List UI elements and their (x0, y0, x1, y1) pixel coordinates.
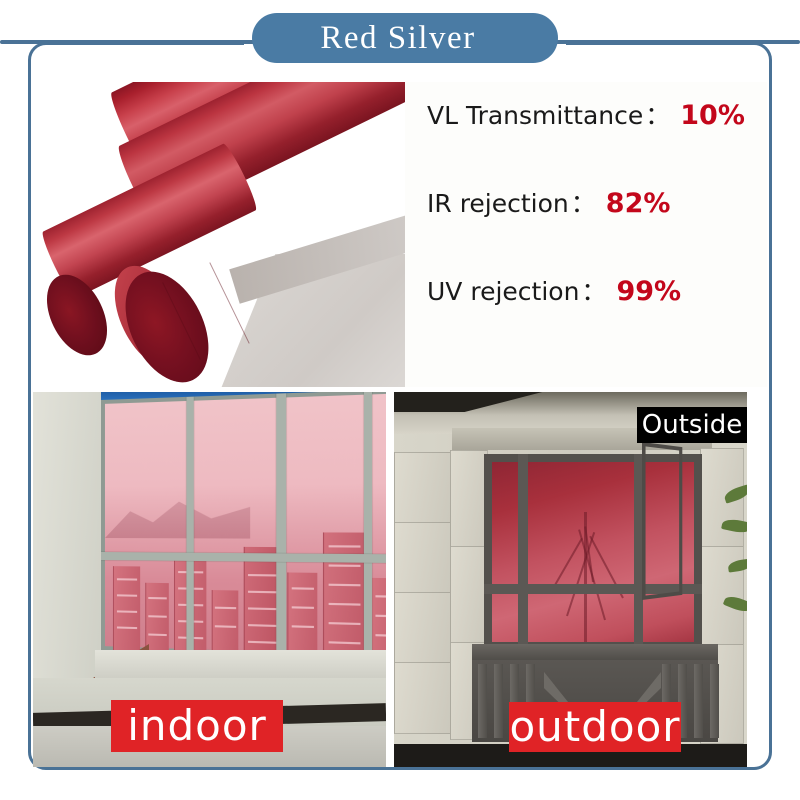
product-infographic: Red Silver VL Transmittance ： 10% IR rej… (0, 0, 800, 800)
title-rule-left (0, 40, 268, 44)
indoor-wall-pillar (33, 392, 101, 682)
railing-slat (694, 664, 703, 738)
indoor-caption-banner: indoor (111, 700, 283, 752)
outdoor-caption: outdoor (509, 706, 680, 748)
outdoor-mullion-vertical (518, 454, 528, 650)
title-rule-right (542, 40, 800, 44)
indoor-building-tall (323, 532, 365, 661)
spec-colon: ： (643, 96, 672, 132)
outdoor-open-sash (642, 442, 682, 600)
outdoor-stone-block (394, 452, 452, 524)
indoor-window-sill (95, 650, 386, 680)
outside-badge: Outside (637, 407, 747, 443)
spec-row: UV rejection ： 99% (427, 272, 767, 360)
outdoor-stone-block (394, 662, 452, 734)
indoor-building (113, 566, 140, 653)
indoor-view-city (105, 526, 386, 663)
spec-value: 99% (608, 276, 681, 307)
indoor-building (287, 572, 317, 660)
page-title: Red Silver (320, 22, 489, 55)
spec-label: UV rejection (427, 277, 579, 306)
railing-slat (494, 664, 503, 738)
spec-panel: VL Transmittance ： 10% IR rejection ： 82… (405, 82, 767, 387)
spec-colon: ： (569, 184, 598, 220)
outdoor-stone-block (394, 522, 452, 594)
spec-value: 82% (598, 188, 671, 219)
spec-value: 10% (672, 100, 745, 131)
page-title-pill: Red Silver (252, 13, 558, 63)
spec-label: VL Transmittance (427, 101, 643, 130)
railing-slat (478, 664, 487, 738)
outdoor-stone-block (394, 592, 452, 664)
outside-badge-label: Outside (642, 412, 742, 438)
indoor-building (145, 583, 169, 655)
window-mullion-vertical (186, 397, 193, 654)
outdoor-photo: Outside outdoor (394, 392, 747, 767)
product-photo (33, 82, 405, 387)
spec-colon: ： (579, 272, 608, 308)
indoor-window (101, 392, 386, 661)
spec-row: VL Transmittance ： 10% (427, 96, 767, 184)
indoor-building (212, 590, 239, 657)
spec-label: IR rejection (427, 189, 569, 218)
indoor-photo: indoor (33, 392, 386, 767)
indoor-caption: indoor (127, 705, 267, 747)
spec-row: IR rejection ： 82% (427, 184, 767, 272)
comparison-photo-row: indoor (33, 392, 767, 767)
outdoor-stone-block (450, 450, 488, 548)
top-section: VL Transmittance ： 10% IR rejection ： 82… (33, 82, 767, 387)
outdoor-stone-block (450, 546, 488, 644)
window-mullion-vertical (276, 393, 286, 657)
railing-slat (710, 664, 719, 738)
window-mullion-vertical (364, 392, 372, 660)
outdoor-caption-banner: outdoor (509, 702, 681, 752)
